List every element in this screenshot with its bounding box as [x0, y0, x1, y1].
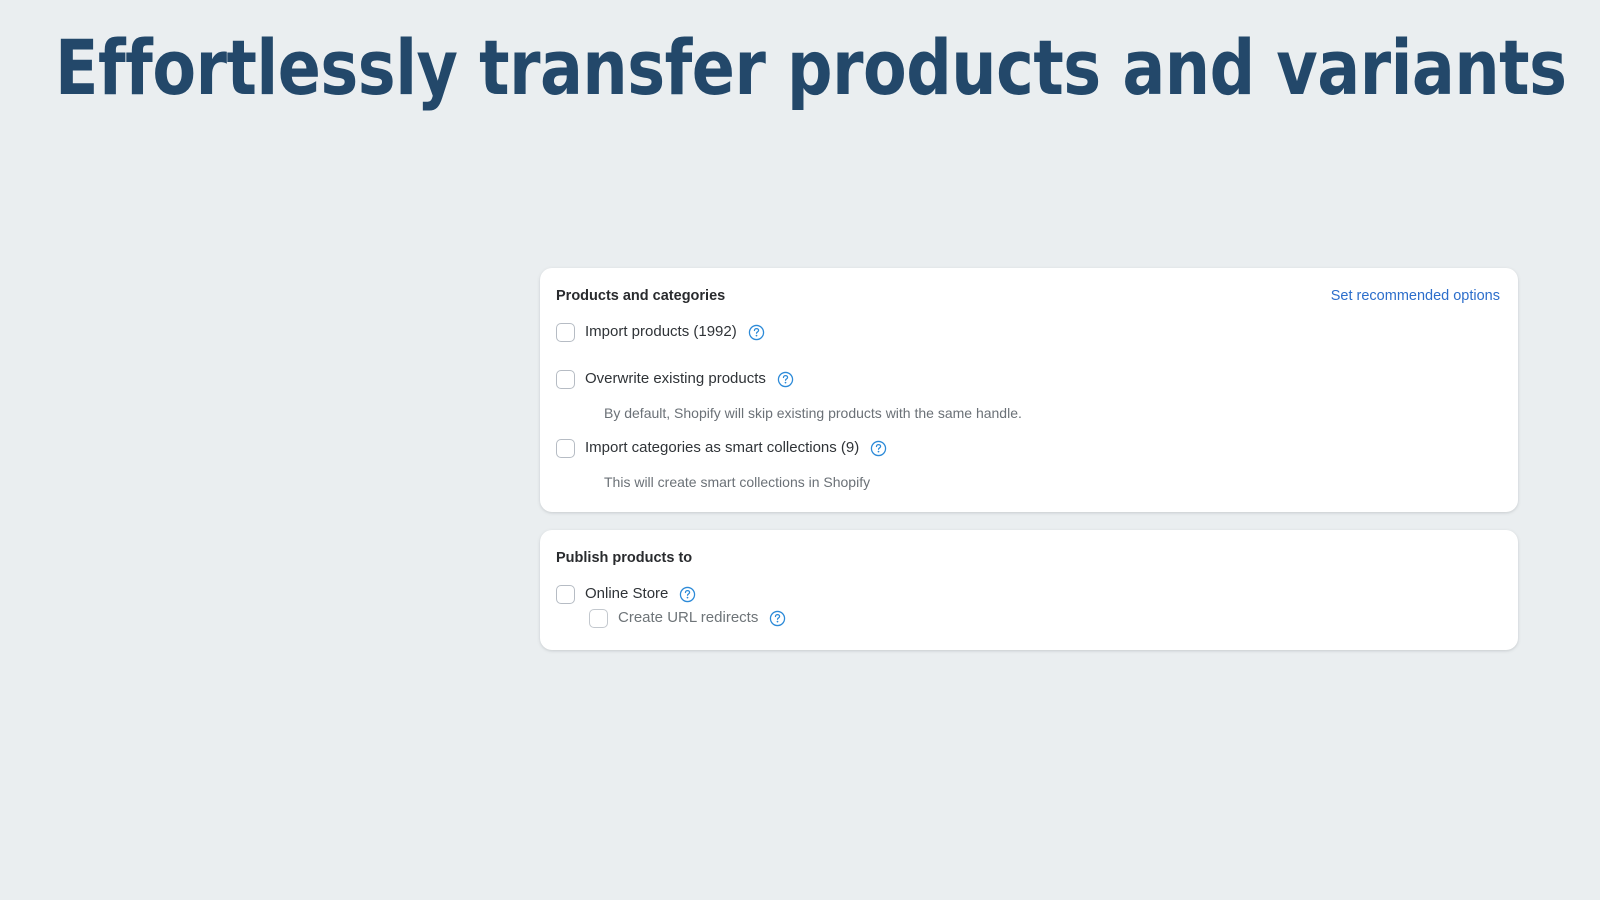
row-spacer: [556, 344, 1500, 367]
checkbox-online-store[interactable]: [556, 585, 575, 604]
checkbox-import-products[interactable]: [556, 323, 575, 342]
option-row-online-store[interactable]: Online Store: [556, 582, 1500, 606]
option-label[interactable]: Create URL redirects: [618, 607, 758, 629]
settings-cards-column: Products and categories Set recommended …: [540, 268, 1518, 650]
checkbox-import-categories[interactable]: [556, 439, 575, 458]
question-circle-icon[interactable]: [748, 324, 765, 341]
option-label[interactable]: Import categories as smart collections (…: [585, 437, 859, 459]
card-header: Publish products to: [556, 548, 1500, 568]
option-row-import-categories[interactable]: Import categories as smart collections (…: [556, 436, 1500, 460]
option-helper-text: This will create smart collections in Sh…: [556, 472, 1500, 492]
checkbox-overwrite-existing-products[interactable]: [556, 370, 575, 389]
option-helper-text: By default, Shopify will skip existing p…: [556, 403, 1500, 423]
card-title: Products and categories: [556, 286, 725, 306]
card-options-list: Online Store Create URL redirects: [556, 582, 1500, 630]
card-title: Publish products to: [556, 548, 692, 568]
question-circle-icon[interactable]: [769, 610, 786, 627]
option-row-overwrite-existing-products[interactable]: Overwrite existing products: [556, 367, 1500, 391]
page-title: Effortlessly transfer products and varia…: [55, 28, 1450, 108]
option-row-create-url-redirects[interactable]: Create URL redirects: [556, 606, 1500, 630]
row-spacer: [556, 423, 1500, 436]
question-circle-icon[interactable]: [870, 440, 887, 457]
checkbox-create-url-redirects[interactable]: [589, 609, 608, 628]
option-label[interactable]: Import products (1992): [585, 321, 737, 343]
card-publish-products-to: Publish products to Online Store Create: [540, 530, 1518, 650]
option-label[interactable]: Overwrite existing products: [585, 368, 766, 390]
option-label[interactable]: Online Store: [585, 583, 668, 605]
card-header: Products and categories Set recommended …: [556, 286, 1500, 306]
question-circle-icon[interactable]: [777, 371, 794, 388]
hero-section: Effortlessly transfer products and varia…: [55, 28, 1555, 108]
card-options-list: Import products (1992) Overwrite existin…: [556, 320, 1500, 492]
set-recommended-options-link[interactable]: Set recommended options: [1331, 286, 1500, 306]
option-row-import-products[interactable]: Import products (1992): [556, 320, 1500, 344]
card-products-and-categories: Products and categories Set recommended …: [540, 268, 1518, 512]
question-circle-icon[interactable]: [679, 586, 696, 603]
